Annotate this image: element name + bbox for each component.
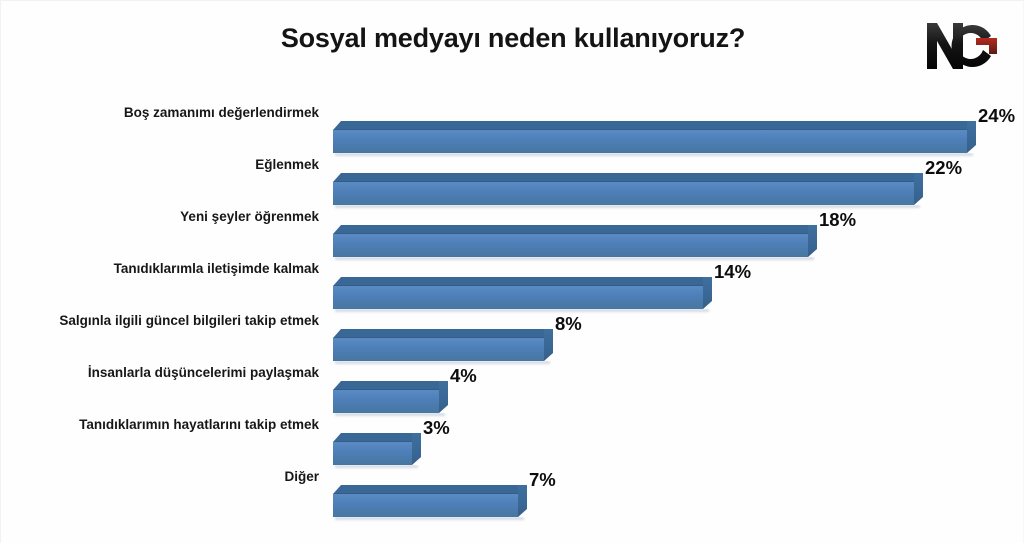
chart-plot-area: Boş zamanımı değerlendirmek24%Eğlenmek22… [1,96,1024,536]
bar-value-label: 22% [925,157,962,179]
ng-logo-icon [923,17,1001,73]
bar-end-cap [518,485,527,517]
bar-top-face [333,381,448,390]
chart-row: İnsanlarla düşüncelerimi paylaşmak4% [1,356,1024,408]
bar-top-face [333,277,712,286]
chart-row: Boş zamanımı değerlendirmek24% [1,96,1024,148]
category-label: Diğer [1,469,319,484]
bar-value-label: 24% [978,105,1015,127]
ng-logo [923,17,1001,73]
category-label: Tanıdıklarımın hayatlarını takip etmek [1,417,319,432]
bar-top-face [333,329,553,338]
bar-value-label: 7% [529,469,556,491]
bar-value-label: 8% [555,313,582,335]
bar-top-face [333,485,527,494]
category-label: Eğlenmek [1,157,319,172]
chart-page: Sosyal medyayı neden kullanıyoruz? Boş z… [0,0,1024,543]
bar[interactable] [333,485,527,517]
bar-value-label: 18% [819,209,856,231]
chart-row: Salgınla ilgili güncel bilgileri takip e… [1,304,1024,356]
chart-row: Tanıdıklarımın hayatlarını takip etmek3% [1,408,1024,460]
category-label: Tanıdıklarımla iletişimde kalmak [1,261,319,276]
bar-top-face [333,121,976,130]
bar-top-face [333,433,421,442]
bar-shadow [335,517,524,520]
chart-row: Tanıdıklarımla iletişimde kalmak14% [1,252,1024,304]
bar-value-label: 3% [423,417,450,439]
bar-value-label: 4% [450,365,477,387]
bar-top-face [333,225,817,234]
bar-value-label: 14% [714,261,751,283]
chart-row: Diğer7% [1,460,1024,512]
chart-row: Yeni şeyler öğrenmek18% [1,200,1024,252]
bar-top-face [333,173,923,182]
category-label: Boş zamanımı değerlendirmek [1,105,319,120]
page-title: Sosyal medyayı neden kullanıyoruz? [1,23,1024,54]
chart-row: Eğlenmek22% [1,148,1024,200]
category-label: Yeni şeyler öğrenmek [1,209,319,224]
category-label: İnsanlarla düşüncelerimi paylaşmak [1,365,319,380]
bar-front-face [333,493,518,517]
category-label: Salgınla ilgili güncel bilgileri takip e… [1,313,319,328]
